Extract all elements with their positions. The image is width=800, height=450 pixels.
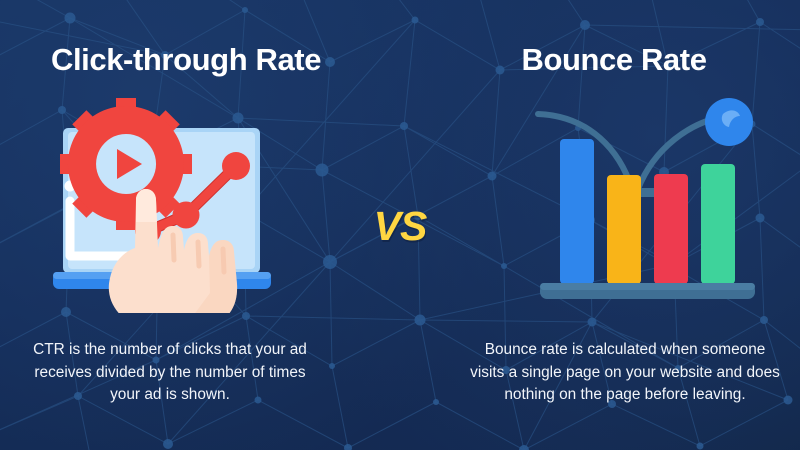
gear-icon — [60, 98, 192, 230]
bar-chart — [560, 139, 735, 284]
bar-1 — [560, 139, 594, 284]
bar-2 — [607, 175, 641, 284]
chart-baseline — [540, 283, 755, 299]
right-section-description: Bounce rate is calculated when someone v… — [470, 339, 780, 407]
left-section-description: CTR is the number of clicks that your ad… — [22, 339, 318, 407]
versus-badge: VS — [365, 203, 435, 250]
bouncing-ball-icon — [705, 98, 753, 146]
right-section-title: Bounce Rate — [428, 42, 800, 78]
bar-4 — [701, 164, 735, 284]
monitor-gear-cursor-illustration — [40, 88, 310, 313]
bar-chart-bouncing-ball-illustration — [530, 96, 765, 311]
left-section-title: Click-through Rate — [0, 42, 372, 78]
infographic-canvas: Click-through Rate Bounce Rate — [0, 0, 800, 450]
bar-3 — [654, 174, 688, 284]
